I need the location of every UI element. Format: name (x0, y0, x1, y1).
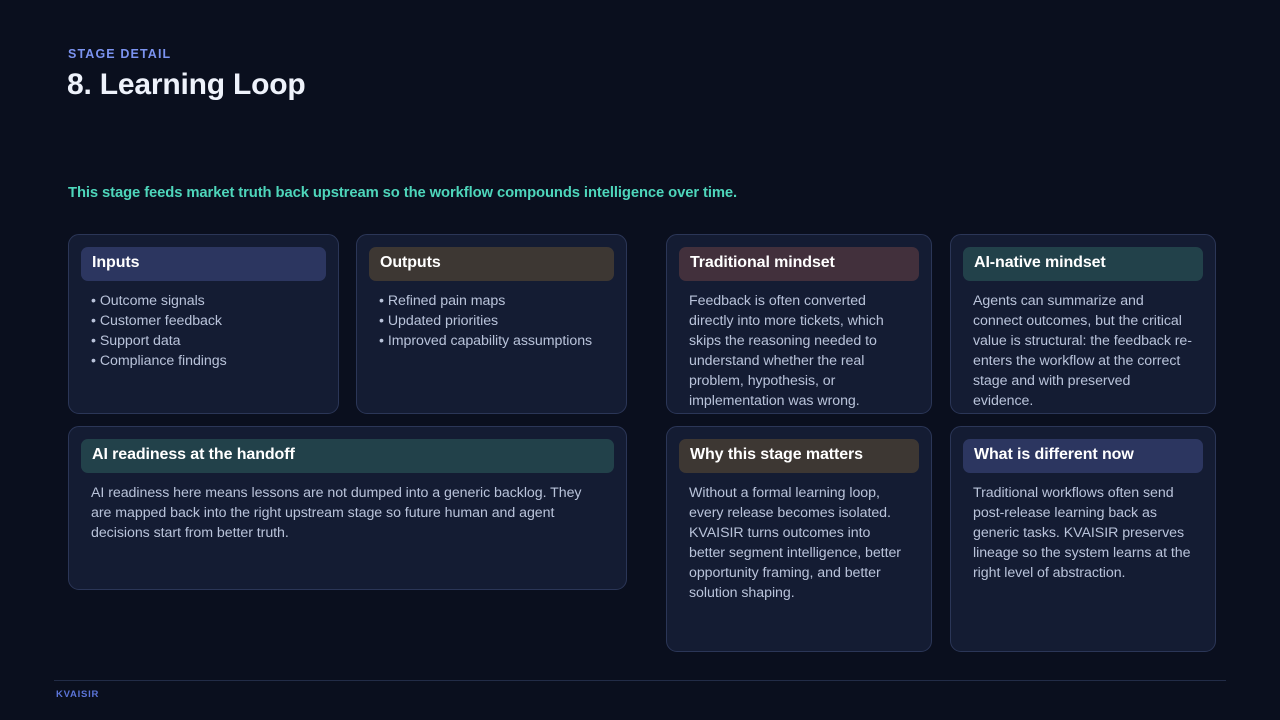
eyebrow-label: STAGE DETAIL (68, 47, 171, 61)
card-traditional-mindset-body: Feedback is often converted directly int… (679, 281, 919, 411)
stage-summary-text: This stage feeds market truth back upstr… (68, 185, 1068, 201)
card-why-this-stage-matters-title: Why this stage matters (679, 439, 919, 473)
card-why-this-stage-matters-body: Without a formal learning loop, every re… (679, 473, 919, 603)
card-inputs-title: Inputs (81, 247, 326, 281)
card-traditional-mindset: Traditional mindset Feedback is often co… (666, 234, 932, 414)
card-ai-readiness: AI readiness at the handoff AI readiness… (68, 426, 627, 590)
footer-divider (54, 680, 1226, 681)
card-outputs: Outputs Refined pain maps Updated priori… (356, 234, 627, 414)
card-traditional-mindset-title: Traditional mindset (679, 247, 919, 281)
card-ai-native-mindset: AI-native mindset Agents can summarize a… (950, 234, 1216, 414)
card-why-this-stage-matters: Why this stage matters Without a formal … (666, 426, 932, 652)
card-inputs-list: Outcome signals Customer feedback Suppor… (81, 281, 326, 371)
list-item: Refined pain maps (379, 291, 604, 311)
card-what-is-different-now: What is different now Traditional workfl… (950, 426, 1216, 652)
card-inputs: Inputs Outcome signals Customer feedback… (68, 234, 339, 414)
list-item: Customer feedback (91, 311, 316, 331)
page-title: 8. Learning Loop (67, 68, 305, 102)
card-ai-readiness-body: AI readiness here means lessons are not … (81, 473, 614, 543)
card-ai-readiness-title: AI readiness at the handoff (81, 439, 614, 473)
card-outputs-list: Refined pain maps Updated priorities Imp… (369, 281, 614, 351)
list-item: Outcome signals (91, 291, 316, 311)
card-what-is-different-now-title: What is different now (963, 439, 1203, 473)
list-item: Compliance findings (91, 351, 316, 371)
list-item: Updated priorities (379, 311, 604, 331)
slide-root: STAGE DETAIL 8. Learning Loop This stage… (0, 0, 1280, 720)
card-what-is-different-now-body: Traditional workflows often send post-re… (963, 473, 1203, 583)
footer-brand: KVAISIR (56, 689, 99, 700)
list-item: Improved capability assumptions (379, 331, 604, 351)
card-ai-native-mindset-title: AI-native mindset (963, 247, 1203, 281)
card-outputs-title: Outputs (369, 247, 614, 281)
list-item: Support data (91, 331, 316, 351)
card-ai-native-mindset-body: Agents can summarize and connect outcome… (963, 281, 1203, 411)
